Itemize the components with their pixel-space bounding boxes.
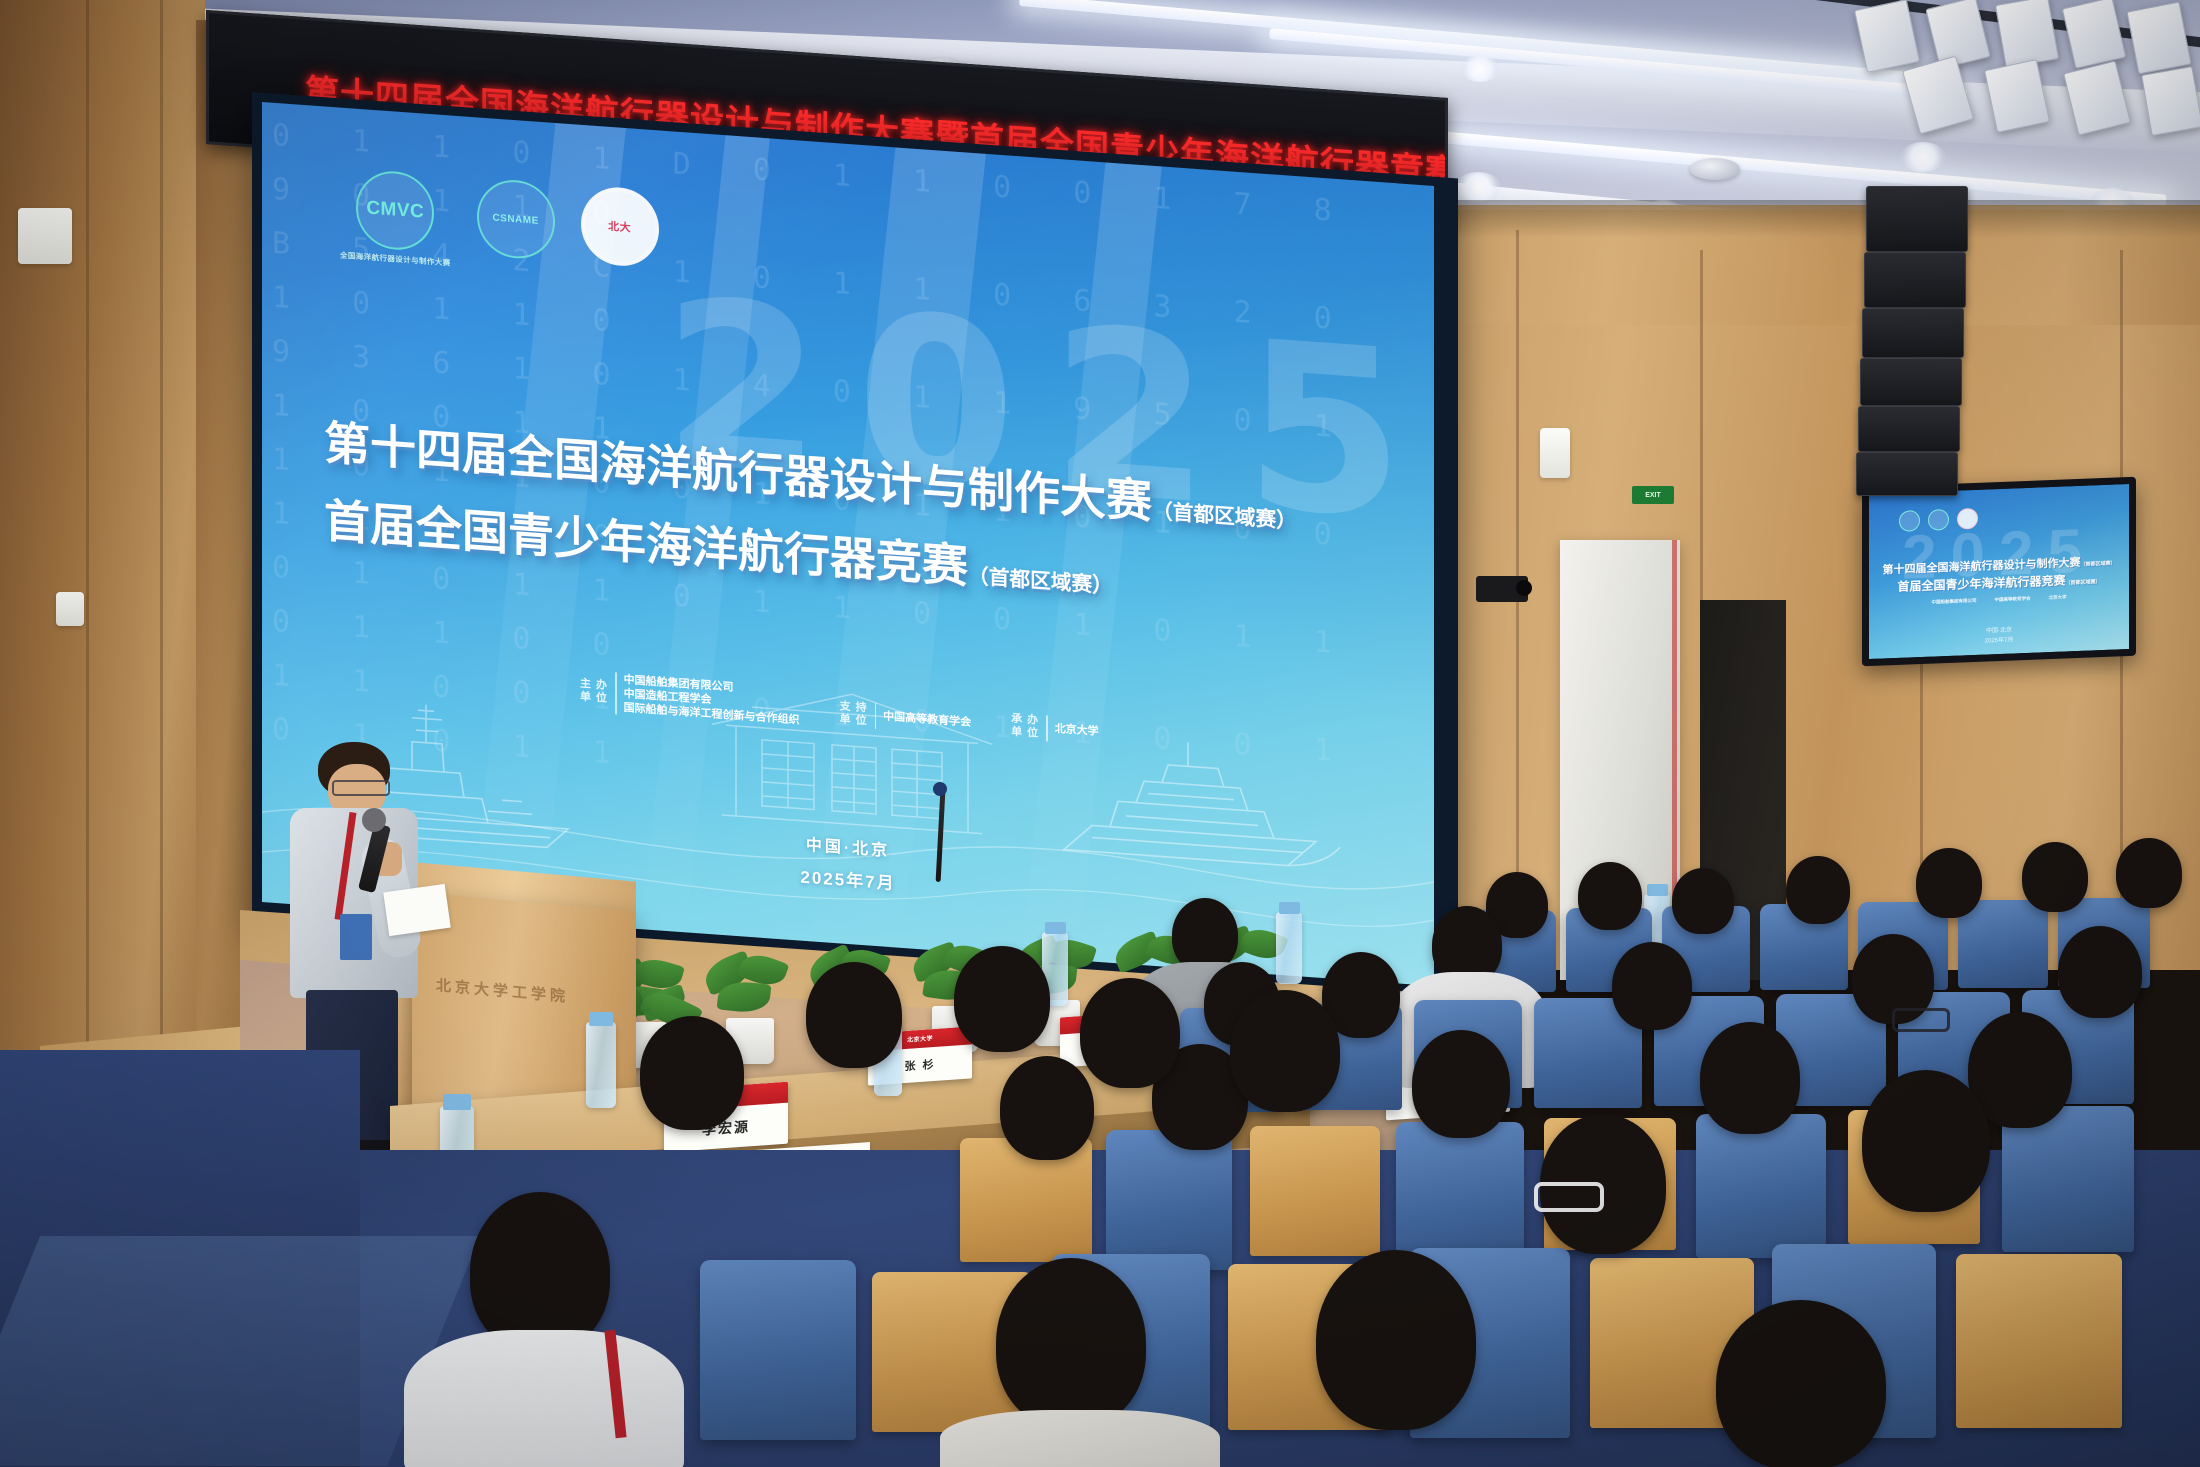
wall-panel-left <box>0 0 205 1180</box>
side-monitor-title-1-suffix: （首都区域赛） <box>2080 561 2115 568</box>
downlight-7 <box>1460 56 1500 82</box>
wall-device-left[interactable] <box>18 208 72 264</box>
seat-back[interactable] <box>1958 900 2048 988</box>
handheld-microphone-capsule <box>362 808 386 832</box>
csname-logo-mark: CSNAME <box>477 177 555 261</box>
organizer-host-divider <box>615 672 617 714</box>
peking-university-logo: 北大 <box>581 185 659 269</box>
side-monitor-org-3: 北京大学 <box>2049 594 2067 601</box>
line-array-module-1 <box>1866 186 1968 252</box>
water-bottle-2-cap <box>589 1012 613 1026</box>
side-monitor-title-2-suffix: （首都区域赛） <box>2066 579 2101 586</box>
audience-head <box>1412 1030 1510 1138</box>
line-array-speaker-stack <box>1860 186 1970 516</box>
water-bottle-5 <box>1276 912 1302 984</box>
water-bottle-5-cap <box>1279 902 1300 914</box>
audience-head-foreground <box>1316 1250 1476 1430</box>
wall-camera-lens <box>1516 580 1532 596</box>
peking-university-logo-mark: 北大 <box>581 185 659 269</box>
water-bottle-2 <box>586 1022 616 1108</box>
audience-head-foreground <box>1080 978 1180 1088</box>
wall-seam-left-1 <box>86 0 89 1180</box>
audience-torso-foreground <box>940 1410 1220 1467</box>
csname-logo: CSNAME <box>477 177 555 261</box>
audience-head <box>2116 838 2182 908</box>
audience-head <box>1578 862 1642 930</box>
audience-head-foreground <box>1716 1300 1886 1467</box>
wall-panel-right-upper <box>1380 205 2200 325</box>
downlight-1 <box>1455 172 1501 202</box>
audience-torso-foreground <box>404 1330 684 1467</box>
audience-head-foreground <box>954 946 1050 1052</box>
downlight-3 <box>1900 142 1946 172</box>
auditorium-scene: 第十四届全国海洋航行器设计与制作大赛暨首届全国青少年海洋航行器竞赛（首都区域赛）… <box>0 0 2200 1467</box>
line-array-module-5 <box>1858 406 1960 452</box>
audience-head <box>1916 848 1982 918</box>
line-array-module-3 <box>1862 308 1964 358</box>
cmvc-logo: CMVC 全国海洋航行器设计与制作大赛 <box>340 168 451 269</box>
line-array-module-6 <box>1856 452 1958 496</box>
audience-head <box>2022 842 2088 912</box>
audience-glasses <box>1534 1182 1604 1212</box>
audience-glasses <box>1892 1008 1950 1032</box>
line-array-module-4 <box>1860 358 1962 406</box>
presenter-script-paper <box>383 884 451 936</box>
audience-head-foreground <box>996 1258 1146 1428</box>
audience-head <box>2058 926 2142 1018</box>
audience-head <box>1000 1056 1094 1160</box>
cmvc-logo-mark: CMVC <box>356 169 434 253</box>
audience-head-foreground <box>640 1016 744 1130</box>
screen-title-line-1-suffix: （首都区域赛） <box>1152 500 1297 533</box>
organizer-undertaker-divider <box>1046 715 1048 741</box>
audience-head <box>1700 1022 1800 1134</box>
smoke-detector-2 <box>1690 158 1740 180</box>
audience-head <box>1172 898 1238 972</box>
presenter-badge <box>340 914 372 960</box>
audience-head-foreground <box>806 962 902 1068</box>
audience-head <box>1786 856 1850 924</box>
audience-head-foreground <box>1230 990 1340 1112</box>
screen-title-line-2-suffix: （首都区域赛） <box>968 565 1113 598</box>
wall-device-right[interactable] <box>1540 428 1570 478</box>
stage-par-light-9 <box>2141 66 2200 136</box>
audience-head-foreground <box>470 1192 610 1352</box>
audience-head-foreground <box>1862 1070 1990 1212</box>
exit-sign: EXIT <box>1632 486 1674 504</box>
water-bottle-1-cap <box>443 1094 471 1110</box>
seat-back[interactable] <box>700 1260 856 1440</box>
presenter-glasses <box>332 780 390 796</box>
audience-head <box>1672 868 1734 934</box>
organizer-undertaker-key: 承 办 单 位 <box>1011 713 1039 741</box>
wall-seam-left-2 <box>160 0 163 1180</box>
wall-switch-left[interactable] <box>56 592 84 626</box>
podium-mic-capsule <box>933 782 947 796</box>
organizer-undertaker-key-l2: 单 位 <box>1011 726 1039 741</box>
stage-par-light-3 <box>1995 0 2059 68</box>
seat-cushion[interactable] <box>1956 1254 2122 1428</box>
line-array-module-2 <box>1864 252 1966 308</box>
audience-head <box>1612 942 1692 1030</box>
water-bottle-4-cap <box>1045 922 1066 934</box>
